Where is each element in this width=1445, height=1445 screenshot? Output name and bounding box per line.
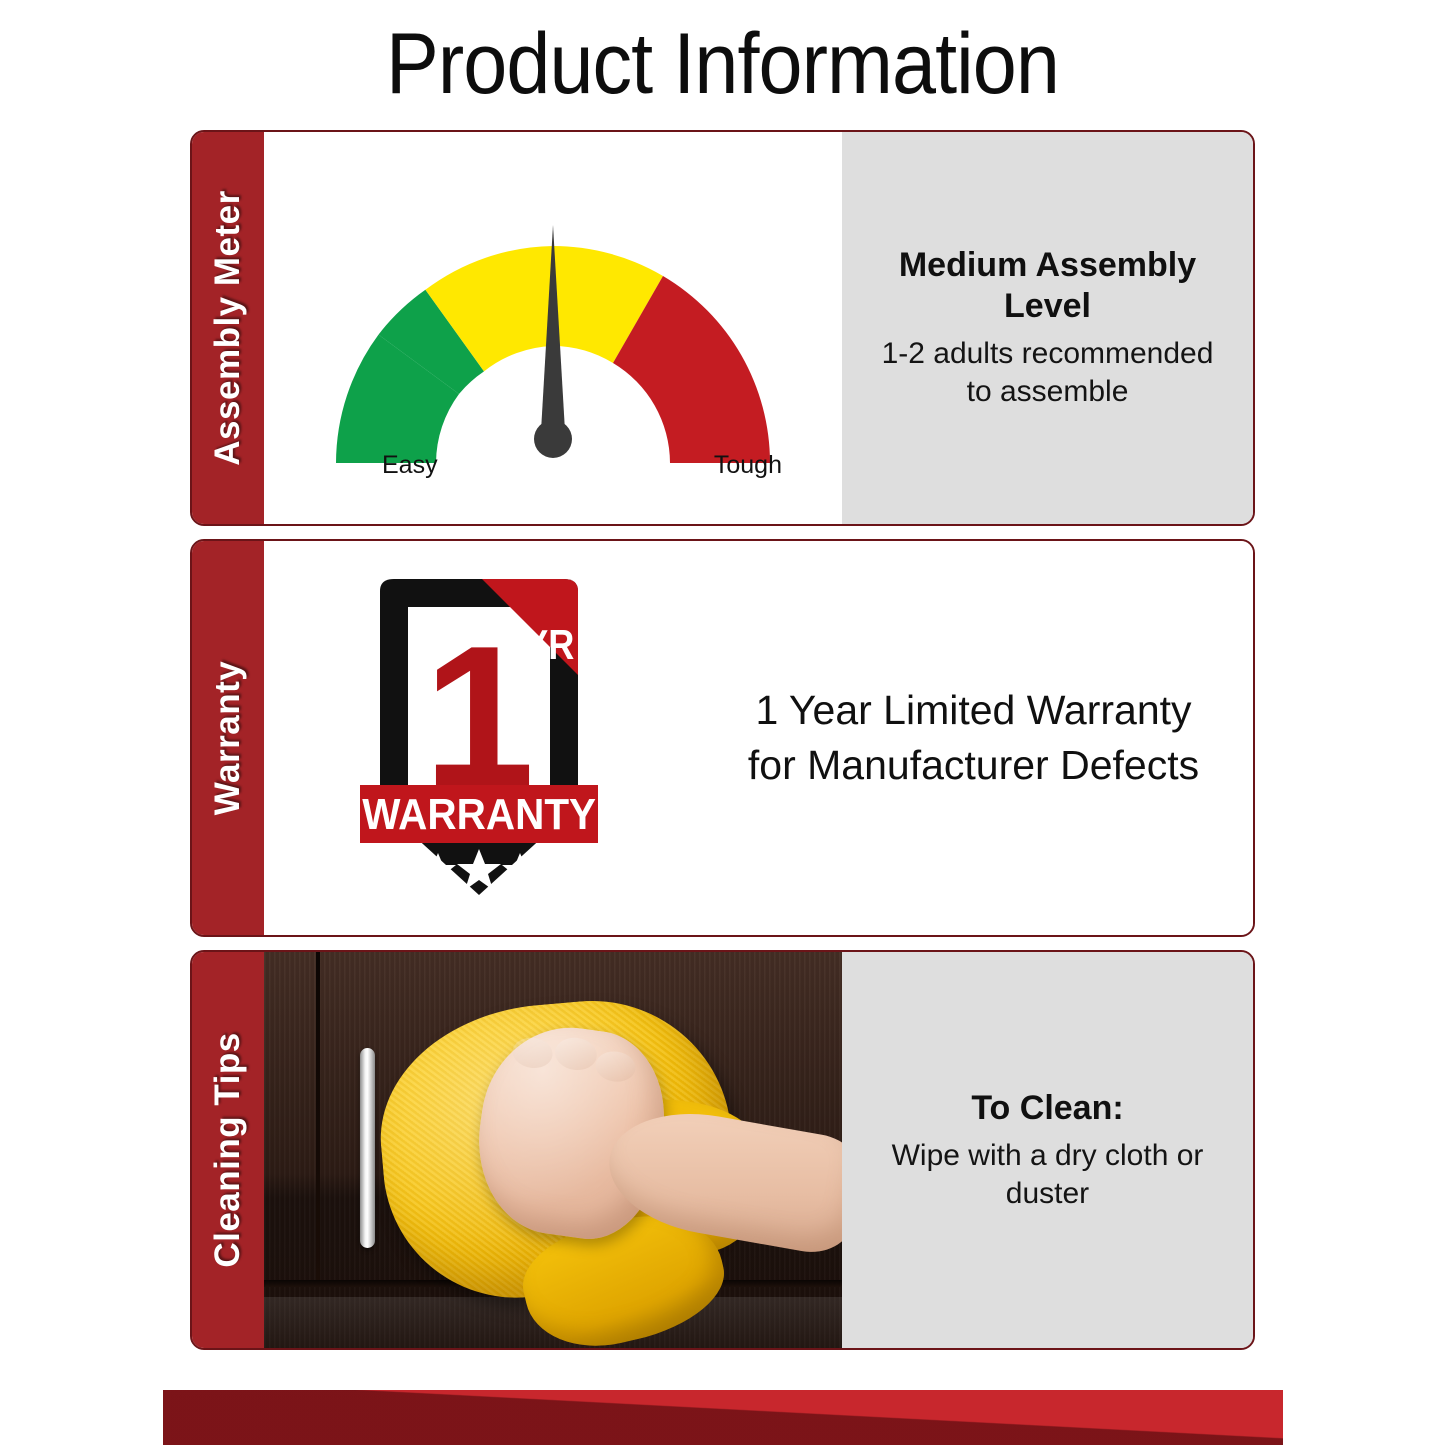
badge-band-label: WARRANTY [362, 789, 596, 838]
gauge-needle-hub [534, 420, 572, 458]
panel-tab-warranty: Warranty [192, 541, 264, 935]
knuckle-2 [553, 1035, 599, 1073]
cleaning-subtext: Wipe with a dry cloth or duster [868, 1137, 1227, 1213]
panel-body: YR 1 WARRANTY [264, 541, 1253, 935]
gauge-wrapper: Easy Tough [264, 132, 842, 524]
panel-body: Easy Tough Medium Assembly Level 1-2 adu… [264, 132, 1253, 524]
cleaning-photo [264, 952, 842, 1348]
cabinet-handle [360, 1048, 375, 1248]
infographic-page: Product Information Assembly Meter [0, 0, 1445, 1445]
knuckle-1 [511, 1035, 555, 1070]
cabinet-seam [316, 952, 320, 1282]
panel-body: To Clean: Wipe with a dry cloth or duste… [264, 952, 1253, 1348]
cleaning-info-pane: To Clean: Wipe with a dry cloth or duste… [842, 952, 1253, 1348]
bottom-accent-bar-diagonal [163, 1390, 1283, 1445]
panel-assembly-meter: Assembly Meter [190, 130, 1255, 526]
assembly-subtext: 1-2 adults recommended to assemble [868, 335, 1227, 411]
panel-tab-label: Assembly Meter [208, 190, 248, 465]
panel-tab-label: Warranty [208, 661, 248, 815]
knuckle-3 [594, 1049, 638, 1084]
assembly-info-pane: Medium Assembly Level 1-2 adults recomme… [842, 132, 1253, 524]
gauge-label-easy: Easy [382, 451, 438, 480]
panel-tab-cleaning-tips: Cleaning Tips [192, 952, 264, 1348]
panel-tab-label: Cleaning Tips [208, 1032, 248, 1267]
warranty-badge-icon: YR 1 WARRANTY [354, 573, 604, 903]
panel-tab-assembly-meter: Assembly Meter [192, 132, 264, 524]
bottom-accent-bar [163, 1390, 1283, 1445]
panel-warranty: Warranty [190, 539, 1255, 937]
cleaning-photo-pane [264, 952, 842, 1348]
panel-cleaning-tips: Cleaning Tips [190, 950, 1255, 1350]
warranty-text: 1 Year Limited Warranty for Manufacturer… [748, 683, 1199, 793]
badge-wrapper: YR 1 WARRANTY [264, 541, 694, 935]
assembly-gauge-pane: Easy Tough [264, 132, 842, 524]
assembly-gauge-chart [273, 163, 833, 493]
gauge-label-tough: Tough [714, 451, 782, 480]
page-title: Product Information [58, 16, 1387, 112]
assembly-heading: Medium Assembly Level [878, 245, 1218, 327]
warranty-badge-pane: YR 1 WARRANTY [264, 541, 694, 935]
cleaning-heading: To Clean: [971, 1088, 1123, 1129]
warranty-info-pane: 1 Year Limited Warranty for Manufacturer… [694, 541, 1253, 935]
